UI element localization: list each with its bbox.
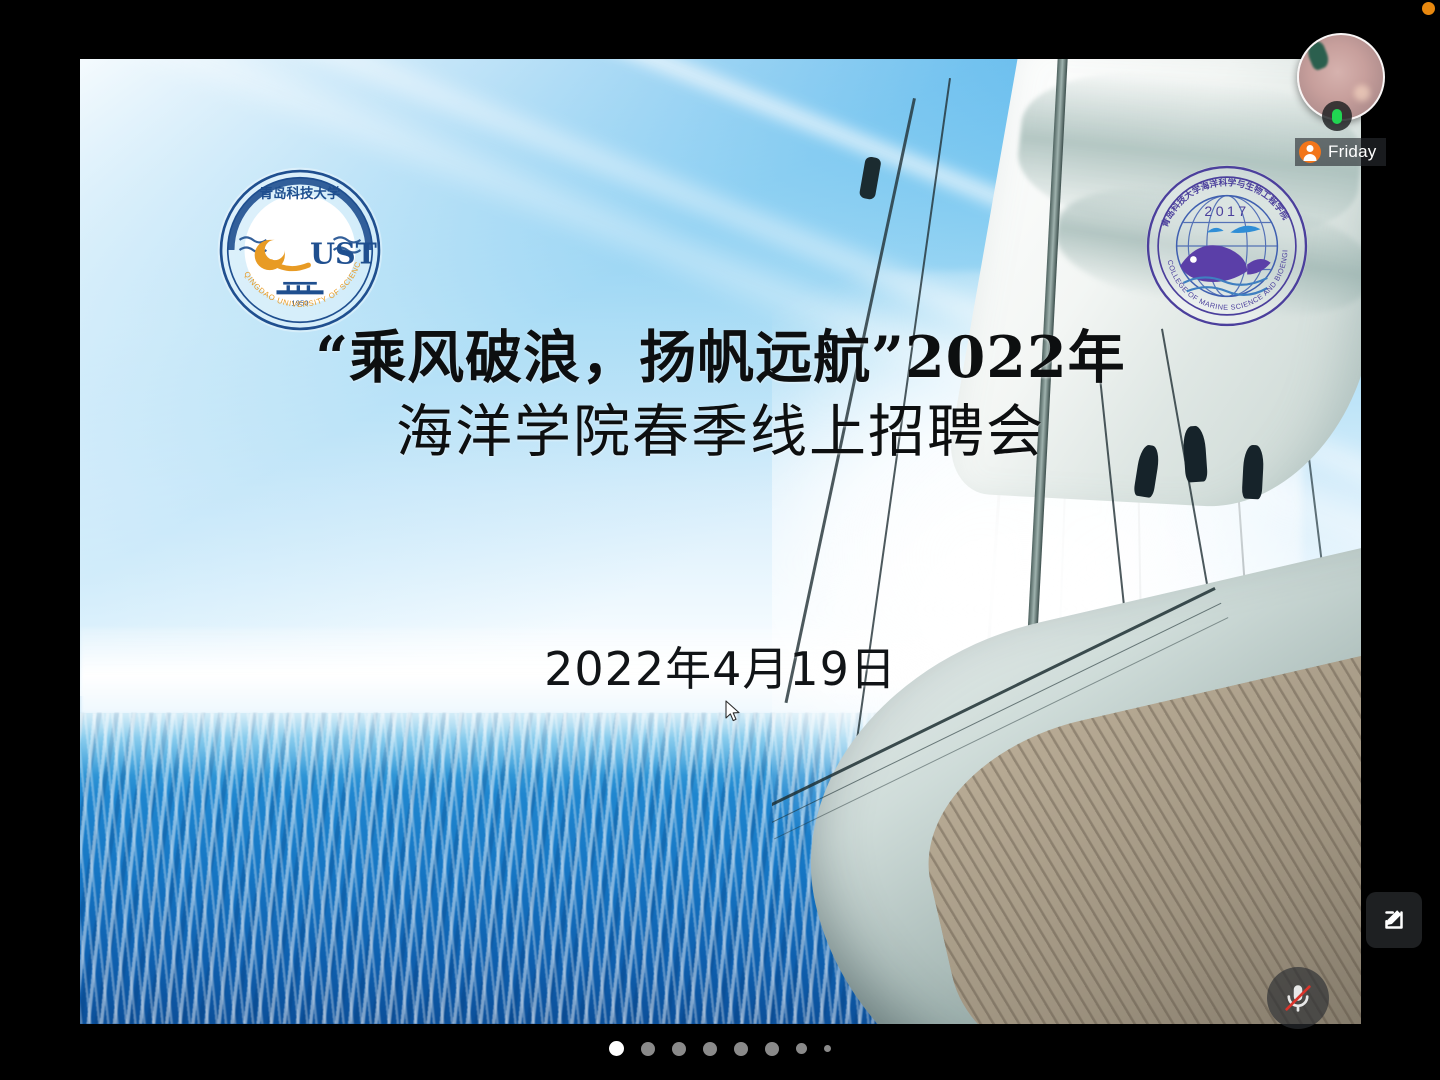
annotate-button[interactable] bbox=[1366, 892, 1422, 948]
seagull-icon bbox=[900, 561, 930, 571]
pagination-dot-3[interactable] bbox=[672, 1042, 686, 1056]
presenter-silhouette bbox=[1305, 39, 1332, 71]
pagination-dot-4[interactable] bbox=[703, 1042, 717, 1056]
presenter-name-chip: Friday bbox=[1295, 138, 1386, 166]
presenter-mic-indicator bbox=[1322, 101, 1352, 131]
recording-dot bbox=[1422, 2, 1435, 15]
svg-text:2017: 2017 bbox=[1204, 204, 1249, 220]
presenter-light-flare bbox=[1354, 85, 1369, 100]
pagination-dot-7[interactable] bbox=[796, 1043, 807, 1054]
pagination-dot-5[interactable] bbox=[734, 1042, 748, 1056]
svg-text:UST: UST bbox=[310, 236, 377, 270]
user-avatar-icon bbox=[1299, 141, 1321, 163]
qust-university-logo: 青岛科技大学 UST 1950 QINGDAO UNIVERSITY OF SC… bbox=[216, 166, 384, 334]
app-root: 青岛科技大学 UST 1950 QINGDAO UNIVERSITY OF SC… bbox=[0, 0, 1440, 1080]
presenter-name-label: Friday bbox=[1328, 142, 1376, 162]
block-pulley bbox=[859, 156, 882, 200]
pagination-dot-8[interactable] bbox=[824, 1045, 831, 1052]
mute-toggle-button[interactable] bbox=[1267, 967, 1329, 1029]
pagination-dot-6[interactable] bbox=[765, 1042, 779, 1056]
pagination-dot-2[interactable] bbox=[641, 1042, 655, 1056]
pagination-dot-1[interactable] bbox=[609, 1041, 624, 1056]
svg-text:青岛科技大学: 青岛科技大学 bbox=[260, 185, 341, 202]
microphone-active-icon bbox=[1332, 109, 1342, 124]
crew-member bbox=[1242, 445, 1265, 500]
shared-slide-view[interactable]: 青岛科技大学 UST 1950 QINGDAO UNIVERSITY OF SC… bbox=[80, 59, 1361, 1024]
microphone-muted-icon bbox=[1281, 981, 1315, 1015]
slide-pagination[interactable] bbox=[0, 1041, 1440, 1056]
marine-college-logo: 青岛科技大学海洋科学与生物工程学院 2017 COLLEGE OF MARINE… bbox=[1143, 162, 1311, 330]
pencil-annotate-icon bbox=[1379, 905, 1409, 935]
